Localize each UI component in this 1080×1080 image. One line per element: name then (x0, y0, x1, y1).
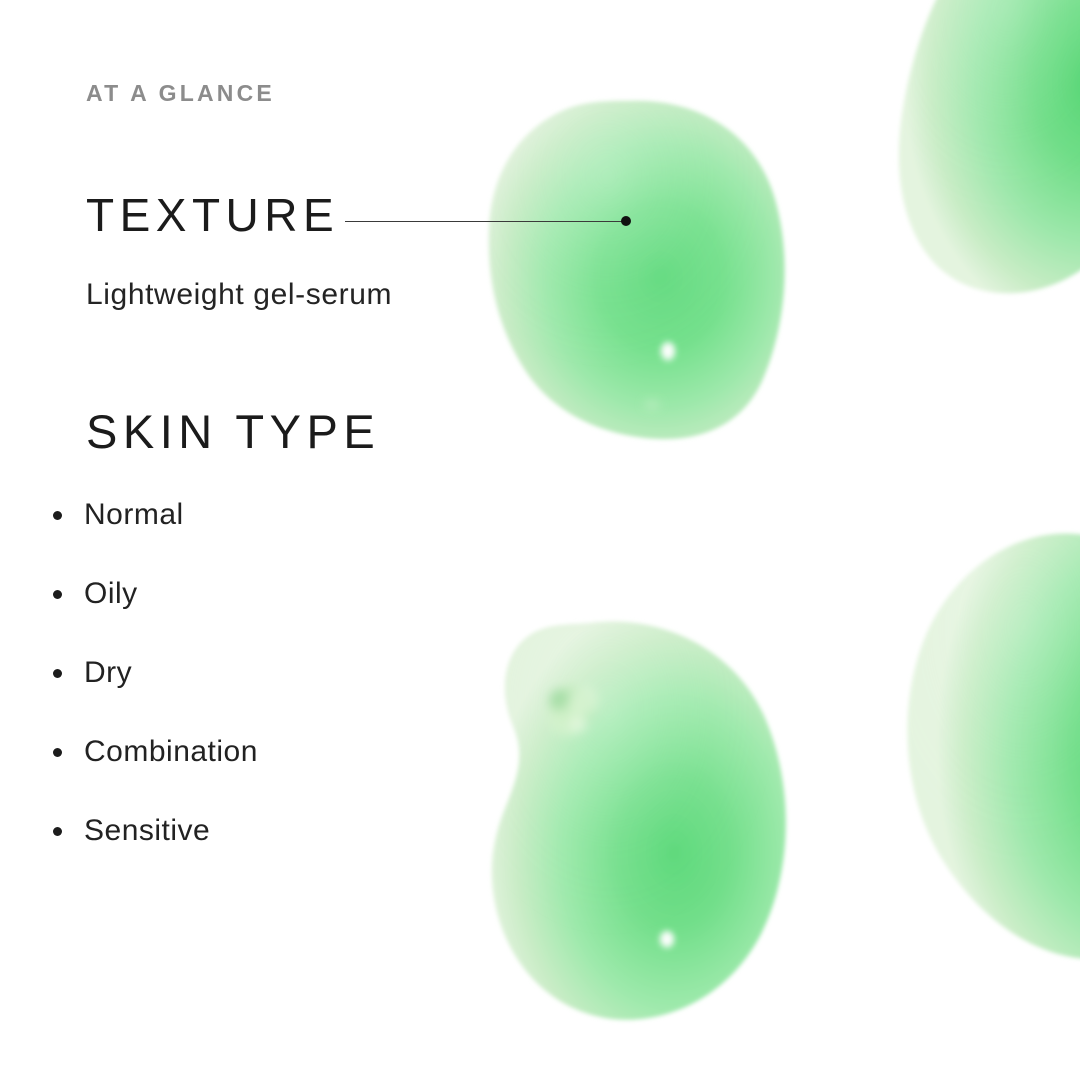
text-column: AT A GLANCE TEXTURE Lightweight gel-seru… (0, 0, 470, 1080)
skin-type-heading: SKIN TYPE (86, 408, 380, 455)
gel-bubble-cluster (549, 686, 598, 736)
list-item: Dry (48, 656, 448, 735)
list-item-label: Normal (84, 498, 184, 532)
leader-line-rule (345, 221, 628, 222)
bullet-dot-icon (53, 827, 62, 836)
gel-bubble-faint (642, 399, 662, 411)
gel-bubble-highlight (658, 930, 676, 951)
eyebrow-heading: AT A GLANCE (86, 82, 275, 105)
list-item: Oily (48, 577, 448, 656)
list-item: Combination (48, 735, 448, 814)
infographic-canvas: AT A GLANCE TEXTURE Lightweight gel-seru… (0, 0, 1080, 1080)
list-item-label: Dry (84, 656, 132, 690)
bullet-dot-icon (53, 748, 62, 757)
list-item-label: Sensitive (84, 814, 210, 848)
gel-swatch-top-left (489, 101, 785, 439)
list-item: Normal (48, 498, 448, 577)
bullet-dot-icon (53, 590, 62, 599)
bullet-dot-icon (53, 511, 62, 520)
gel-swatch-bottom-right-cropped (907, 534, 1080, 959)
texture-description: Lightweight gel-serum (86, 280, 392, 310)
bullet-dot-icon (53, 669, 62, 678)
skin-type-list: Normal Oily Dry Combination Sensitive (48, 498, 448, 893)
texture-heading: TEXTURE (86, 192, 339, 238)
leader-line-endpoint-dot (621, 216, 631, 226)
gel-swatch-top-right-cropped (899, 0, 1080, 293)
texture-leader-line (345, 220, 630, 222)
gel-swatch-bottom-center (492, 622, 786, 1020)
gel-bubble-highlight (659, 341, 677, 364)
list-item-label: Oily (84, 577, 138, 611)
list-item-label: Combination (84, 735, 258, 769)
list-item: Sensitive (48, 814, 448, 893)
